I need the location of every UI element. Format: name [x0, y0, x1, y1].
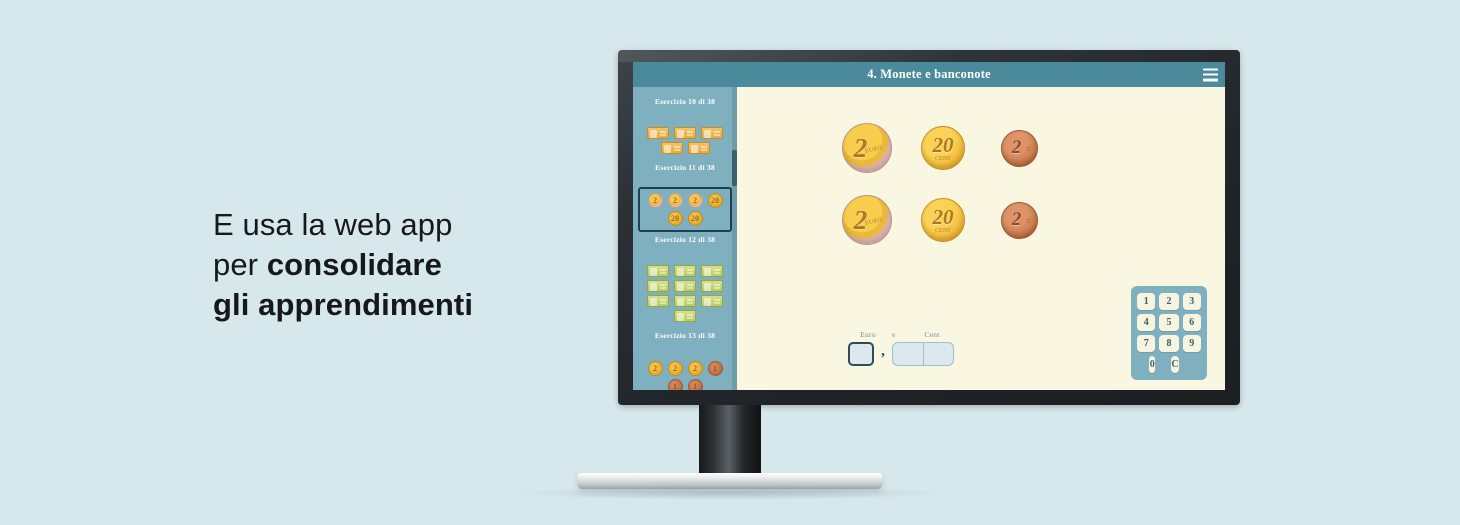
exercise-label: Esercizio 11 di 38 [638, 163, 732, 172]
coin-icon: 20 [668, 211, 683, 226]
coin-icon: 1 [708, 361, 723, 376]
banknote-icon [647, 265, 669, 277]
coin-icon: 20 [688, 211, 703, 226]
coin-20-cent[interactable]: 20 CENT [921, 126, 965, 170]
hamburger-bar [1203, 73, 1218, 76]
numeric-keypad[interactable]: 1 2 3 4 5 6 7 8 9 0 C [1131, 286, 1207, 380]
banknote-icon [701, 295, 723, 307]
coin-slot[interactable]: 20 CENT [905, 112, 981, 184]
coin-icon: 2 [668, 361, 683, 376]
banknote-icon [647, 127, 669, 139]
coin-icon: 2 [668, 193, 683, 208]
banknote-icon [701, 127, 723, 139]
coin-value: 20 [689, 212, 702, 225]
banknote-icon [674, 295, 696, 307]
banknote-icon [688, 142, 710, 154]
coin-slot[interactable]: 2 C [981, 184, 1057, 256]
coin-grid: 2 EURO 20 CENT 2 [829, 112, 1057, 256]
and-label: e [885, 330, 903, 339]
app-title: 4. Monete e banconote [867, 67, 991, 82]
coin-icon: 20 [708, 193, 723, 208]
exercise-thumbnail[interactable] [638, 87, 732, 94]
exercise-thumbnail-selected[interactable]: 2 2 2 20 20 20 [638, 187, 732, 232]
list-item[interactable]: Esercizio 10 di 38 [633, 87, 737, 106]
coin-value: 20 [669, 212, 682, 225]
banknote-icon [674, 310, 696, 322]
copy-line-2: per consolidare [213, 245, 643, 285]
key-4[interactable]: 4 [1137, 314, 1155, 331]
coin-slot[interactable]: 20 CENT [905, 184, 981, 256]
coin-value: 2 [1002, 203, 1037, 238]
exercise-canvas: 2 EURO 20 CENT 2 [737, 87, 1225, 390]
banknote-icon [674, 280, 696, 292]
key-6[interactable]: 6 [1183, 314, 1201, 331]
slide-canvas: E usa la web app per consolidare gli app… [0, 0, 1460, 525]
coin-20-cent[interactable]: 20 CENT [921, 198, 965, 242]
key-0[interactable]: 0 [1149, 356, 1155, 373]
cent-digit-tens[interactable] [893, 343, 923, 365]
exercise-sidebar[interactable]: Esercizio 10 di 38 Esercizio 11 [633, 87, 737, 390]
exercise-thumbnail[interactable] [638, 121, 732, 160]
monitor-screen: 4. Monete e banconote Esercizio 10 di 38 [633, 62, 1225, 390]
exercise-label: Esercizio 10 di 38 [638, 97, 732, 106]
coin-sublabel: C [1026, 147, 1030, 153]
app-titlebar: 4. Monete e banconote [633, 62, 1225, 87]
coin-value: 2 [689, 362, 702, 375]
banknote-icon [661, 142, 683, 154]
coin-2-euro[interactable]: 2 EURO [842, 195, 892, 245]
hamburger-bar [1203, 68, 1218, 71]
coin-value: 2 [689, 194, 702, 207]
banknote-icon [674, 265, 696, 277]
copy-line-2-light: per [213, 247, 267, 282]
coin-icon: 2 [648, 361, 663, 376]
sidebar-scroll-content: Esercizio 10 di 38 Esercizio 11 [633, 87, 737, 390]
key-3[interactable]: 3 [1183, 293, 1201, 310]
coin-value: 20 [709, 194, 722, 207]
coin-value: 2 [669, 362, 682, 375]
list-item[interactable]: Esercizio 11 di 38 [633, 117, 737, 172]
answer-area: Euro e Cent , [848, 330, 961, 366]
banknote-icon [701, 265, 723, 277]
coin-2-euro[interactable]: 2 EURO [842, 123, 892, 173]
key-9[interactable]: 9 [1183, 335, 1201, 352]
coin-value: 2 [649, 194, 662, 207]
coin-value: 2 [1002, 131, 1037, 166]
monitor-shadow [515, 486, 945, 500]
key-7[interactable]: 7 [1137, 335, 1155, 352]
euro-label: Euro [851, 330, 885, 339]
monitor: 4. Monete e banconote Esercizio 10 di 38 [618, 50, 1240, 405]
coin-value: 20 [922, 199, 964, 241]
app-body: Esercizio 10 di 38 Esercizio 11 [633, 87, 1225, 390]
banknote-icon [647, 295, 669, 307]
monitor-stand-neck [699, 405, 761, 477]
hamburger-icon[interactable] [1203, 68, 1218, 81]
coin-sublabel: CENT [935, 228, 951, 234]
coin-slot[interactable]: 2 EURO [829, 112, 905, 184]
copy-line-1: E usa la web app [213, 205, 643, 245]
coin-icon: 1 [668, 379, 683, 390]
coin-value: 20 [922, 127, 964, 169]
bezel-highlight [618, 50, 1240, 62]
cent-digit-units[interactable] [923, 343, 954, 365]
banknote-icon [674, 127, 696, 139]
key-1[interactable]: 1 [1137, 293, 1155, 310]
coin-2-cent[interactable]: 2 C [1001, 202, 1038, 239]
copy-line-3: gli apprendimenti [213, 285, 643, 325]
coin-value: 2 [649, 362, 662, 375]
list-item[interactable]: 2 2 2 1 1 1 [633, 351, 737, 390]
coin-icon: 2 [688, 193, 703, 208]
banknote-icon [701, 280, 723, 292]
cent-input[interactable] [892, 342, 954, 366]
answer-fields: , [848, 342, 961, 366]
coin-value: 2 [669, 194, 682, 207]
key-8[interactable]: 8 [1159, 335, 1178, 352]
decimal-separator: , [874, 346, 892, 363]
cent-label: Cent [903, 330, 961, 339]
coin-icon: 2 [688, 361, 703, 376]
list-item[interactable]: Esercizio 13 di 38 [633, 255, 737, 340]
copy-line-2-bold: consolidare [267, 247, 442, 282]
list-item-selected[interactable]: 2 2 2 20 20 20 Esercizio 12 di 38 [633, 183, 737, 244]
exercise-label: Esercizio 13 di 38 [638, 331, 732, 340]
coin-value: 1 [709, 362, 722, 375]
coin-2-cent[interactable]: 2 C [1001, 130, 1038, 167]
exercise-label: Esercizio 12 di 38 [638, 235, 732, 244]
exercise-thumbnail[interactable]: 2 2 2 1 1 1 [638, 355, 732, 390]
banknote-icon [647, 280, 669, 292]
coin-slot[interactable]: 2 C [981, 112, 1057, 184]
answer-labels: Euro e Cent [848, 330, 961, 339]
euro-input[interactable] [848, 342, 874, 366]
coin-sublabel: CENT [935, 156, 951, 162]
key-5[interactable]: 5 [1159, 314, 1178, 331]
coin-value: 1 [669, 380, 682, 390]
key-2[interactable]: 2 [1159, 293, 1178, 310]
coin-slot[interactable]: 2 EURO [829, 184, 905, 256]
coin-value: 1 [689, 380, 702, 390]
hamburger-bar [1203, 79, 1218, 82]
coin-icon: 1 [688, 379, 703, 390]
coin-icon: 2 [648, 193, 663, 208]
coin-sublabel: C [1026, 219, 1030, 225]
marketing-copy: E usa la web app per consolidare gli app… [213, 205, 643, 325]
key-clear[interactable]: C [1171, 356, 1178, 373]
exercise-thumbnail[interactable] [638, 259, 732, 328]
